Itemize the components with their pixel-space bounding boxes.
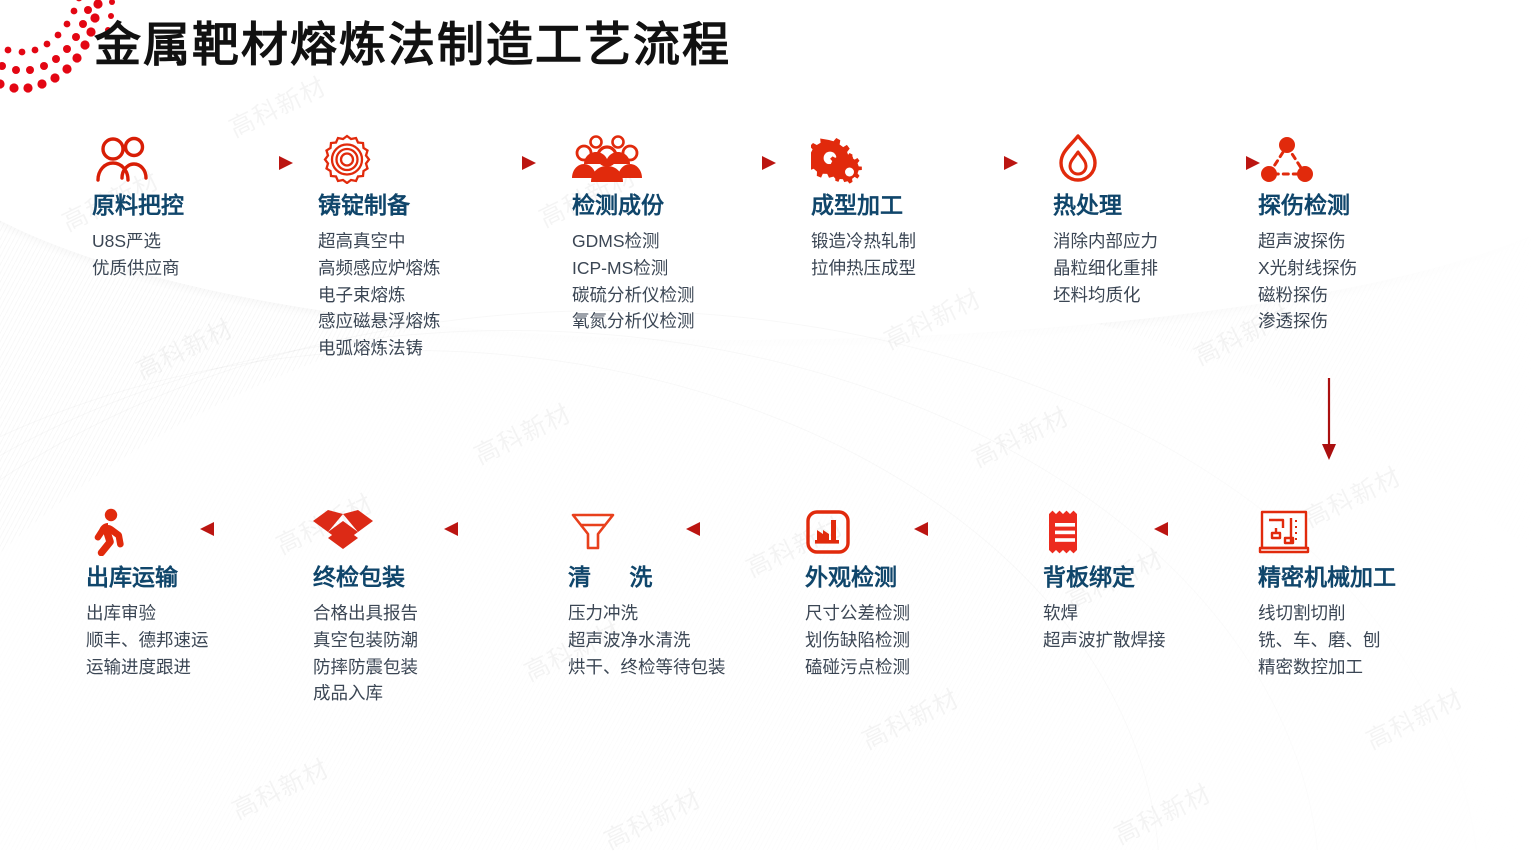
step-detail-lines: 出库审验 顺丰、德邦速运 运输进度跟进: [86, 600, 291, 680]
receipt-icon: [1043, 500, 1248, 556]
step-detail-line: X光射线探伤: [1258, 255, 1463, 282]
flow-arrow-down: [1318, 378, 1340, 469]
step-detail-line: 顺丰、德邦速运: [86, 627, 291, 654]
step-detail-line: 锻造冷热轧制: [811, 228, 1016, 255]
flow-step-10[interactable]: 清 洗 压力冲洗 超声波净水清洗 烘干、终检等待包装: [568, 500, 748, 680]
flow-step-1[interactable]: 原料把控 U8S严选 优质供应商: [92, 128, 297, 282]
step-detail-lines: 超声波探伤 X光射线探伤 磁粉探伤 渗透探伤: [1258, 228, 1463, 335]
step-detail-line: 磁粉探伤: [1258, 282, 1463, 309]
step-detail-line: 压力冲洗: [568, 600, 748, 627]
flow-step-4[interactable]: 成型加工 锻造冷热轧制 拉伸热压成型: [811, 128, 1016, 282]
step-detail-line: 超声波探伤: [1258, 228, 1463, 255]
step-detail-line: 感应磁悬浮熔炼: [318, 308, 523, 335]
step-detail-lines: 消除内部应力 晶粒细化重排 坯料均质化: [1053, 228, 1258, 308]
step-title: 清 洗: [568, 564, 748, 591]
step-detail-line: 软焊: [1043, 600, 1248, 627]
step-title: 背板绑定: [1043, 564, 1248, 591]
step-title: 成型加工: [811, 192, 1016, 219]
step-detail-line: 超声波净水清洗: [568, 627, 748, 654]
three-dots-triangle-icon: [1258, 128, 1463, 184]
step-detail-line: 拉伸热压成型: [811, 255, 1016, 282]
step-detail-line: 渗透探伤: [1258, 308, 1463, 335]
step-detail-line: ICP-MS检测: [572, 255, 777, 282]
walking-person-icon: [86, 500, 291, 556]
flow-step-3[interactable]: 检测成份 GDMS检测 ICP-MS检测 碳硫分析仪检测 氧氮分析仪检测: [572, 128, 777, 335]
open-box-icon: [313, 500, 518, 556]
step-detail-lines: 超高真空中 高频感应炉熔炼 电子束熔炼 感应磁悬浮熔炼 电弧熔炼法铸: [318, 228, 523, 362]
cnc-machine-icon: [1258, 500, 1488, 556]
step-detail-line: 划伤缺陷检测: [805, 627, 1010, 654]
step-detail-line: 烘干、终检等待包装: [568, 654, 748, 681]
funnel-icon: [568, 500, 748, 556]
step-detail-lines: 压力冲洗 超声波净水清洗 烘干、终检等待包装: [568, 600, 748, 680]
step-detail-line: 出库审验: [86, 600, 291, 627]
step-title: 终检包装: [313, 564, 518, 591]
step-detail-line: 线切割切削: [1258, 600, 1488, 627]
step-detail-line: 真空包装防潮: [313, 627, 518, 654]
step-detail-lines: 锻造冷热轧制 拉伸热压成型: [811, 228, 1016, 282]
people-two-icon: [92, 128, 297, 184]
step-detail-lines: 合格出具报告 真空包装防潮 防摔防震包装 成品入库: [313, 600, 518, 707]
flow-diagram: 金属靶材熔炼法制造工艺流程: [0, 0, 1531, 850]
step-title: 检测成份: [572, 192, 777, 219]
step-detail-line: 防摔防震包装: [313, 654, 518, 681]
flow-step-6[interactable]: 探伤检测 超声波探伤 X光射线探伤 磁粉探伤 渗透探伤: [1258, 128, 1463, 335]
gears-two-icon: [811, 128, 1016, 184]
step-detail-line: 坯料均质化: [1053, 282, 1258, 309]
step-title: 探伤检测: [1258, 192, 1463, 219]
step-detail-line: 尺寸公差检测: [805, 600, 1010, 627]
step-title: 原料把控: [92, 192, 297, 219]
step-detail-line: 电弧熔炼法铸: [318, 335, 523, 362]
step-detail-line: 电子束熔炼: [318, 282, 523, 309]
step-detail-line: 晶粒细化重排: [1053, 255, 1258, 282]
flow-step-8[interactable]: 背板绑定 软焊 超声波扩散焊接: [1043, 500, 1248, 654]
step-title: 外观检测: [805, 564, 1010, 591]
step-detail-line: GDMS检测: [572, 228, 777, 255]
step-detail-line: U8S严选: [92, 228, 297, 255]
step-detail-lines: 线切割切削 铣、车、磨、刨 精密数控加工: [1258, 600, 1488, 680]
flow-step-5[interactable]: 热处理 消除内部应力 晶粒细化重排 坯料均质化: [1053, 128, 1258, 308]
factory-badge-icon: [805, 500, 1010, 556]
step-detail-line: 高频感应炉熔炼: [318, 255, 523, 282]
step-detail-lines: 尺寸公差检测 划伤缺陷检测 磕碰污点检测: [805, 600, 1010, 680]
step-detail-line: 超声波扩散焊接: [1043, 627, 1248, 654]
step-detail-lines: U8S严选 优质供应商: [92, 228, 297, 282]
step-title: 出库运输: [86, 564, 291, 591]
step-title: 热处理: [1053, 192, 1258, 219]
flow-step-11[interactable]: 终检包装 合格出具报告 真空包装防潮 防摔防震包装 成品入库: [313, 500, 518, 707]
step-detail-line: 合格出具报告: [313, 600, 518, 627]
step-detail-line: 铣、车、磨、刨: [1258, 627, 1488, 654]
step-detail-line: 成品入库: [313, 680, 518, 707]
flow-step-2[interactable]: 铸锭制备 超高真空中 高频感应炉熔炼 电子束熔炼 感应磁悬浮熔炼 电弧熔炼法铸: [318, 128, 523, 362]
step-title: 铸锭制备: [318, 192, 523, 219]
step-detail-line: 超高真空中: [318, 228, 523, 255]
step-detail-lines: GDMS检测 ICP-MS检测 碳硫分析仪检测 氧氮分析仪检测: [572, 228, 777, 335]
step-detail-line: 碳硫分析仪检测: [572, 282, 777, 309]
people-group-icon: [572, 128, 777, 184]
step-detail-lines: 软焊 超声波扩散焊接: [1043, 600, 1248, 654]
flow-step-9[interactable]: 外观检测 尺寸公差检测 划伤缺陷检测 磕碰污点检测: [805, 500, 1010, 680]
step-detail-line: 运输进度跟进: [86, 654, 291, 681]
step-detail-line: 磕碰污点检测: [805, 654, 1010, 681]
page-title: 金属靶材熔炼法制造工艺流程: [94, 6, 731, 75]
step-detail-line: 氧氮分析仪检测: [572, 308, 777, 335]
step-title: 精密机械加工: [1258, 564, 1488, 591]
flow-step-12[interactable]: 出库运输 出库审验 顺丰、德邦速运 运输进度跟进: [86, 500, 291, 680]
step-detail-line: 优质供应商: [92, 255, 297, 282]
step-detail-line: 消除内部应力: [1053, 228, 1258, 255]
flame-icon: [1053, 128, 1258, 184]
flow-step-7[interactable]: 精密机械加工 线切割切削 铣、车、磨、刨 精密数控加工: [1258, 500, 1488, 680]
gear-concentric-icon: [318, 128, 523, 184]
step-detail-line: 精密数控加工: [1258, 654, 1488, 681]
